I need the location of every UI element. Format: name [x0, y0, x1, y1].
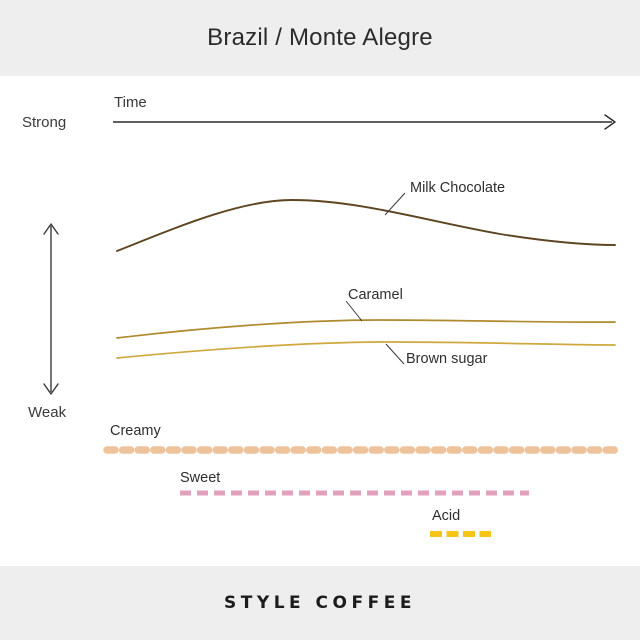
series-label-caramel: Caramel [348, 287, 403, 303]
card-header: Brazil / Monte Alegre [0, 0, 640, 76]
page-title: Brazil / Monte Alegre [207, 24, 433, 52]
series-label-acid: Acid [432, 508, 460, 524]
y-axis-arrow [44, 224, 58, 394]
y-axis-top-label: Strong [22, 114, 66, 131]
brand-logo: STYLE COFFEE [224, 593, 416, 613]
series-label-sweet: Sweet [180, 470, 220, 486]
series-label-milk-chocolate: Milk Chocolate [410, 180, 505, 196]
series-curve-brown-sugar [117, 342, 615, 358]
series-curve-caramel [117, 320, 615, 338]
leader-line-caramel [346, 301, 362, 321]
series-label-brown-sugar: Brown sugar [406, 351, 487, 367]
x-axis-label: Time [114, 94, 147, 111]
series-label-creamy: Creamy [110, 423, 161, 439]
leader-line-brown-sugar [386, 344, 404, 364]
chart-svg [0, 76, 640, 566]
series-curve-milk-chocolate [117, 200, 615, 251]
card-footer: STYLE COFFEE [0, 566, 640, 640]
chart-area: Strong Weak Time Milk Chocolate Caramel … [0, 76, 640, 566]
y-axis-bottom-label: Weak [28, 404, 66, 421]
coffee-flavor-profile-card: Brazil / Monte Alegre [0, 0, 640, 640]
x-axis-arrow [113, 115, 615, 129]
